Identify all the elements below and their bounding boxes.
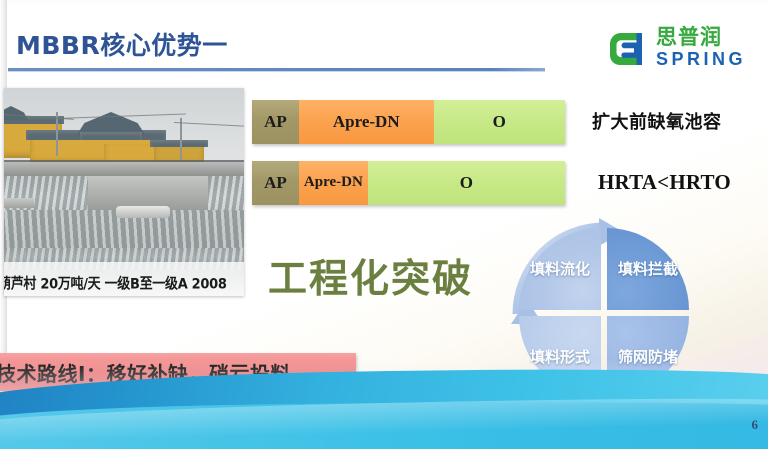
bar-two-note: HRTA<HRTO: [598, 170, 731, 195]
tech-route-banner-text: 技术路线I：移好补缺，硝亏投料: [0, 358, 291, 387]
bar-two-segment-ap: AP: [252, 161, 299, 205]
photo-roof-main: [80, 132, 142, 140]
photo-pipe: [116, 206, 170, 218]
brand-name-english: SPRING: [656, 50, 746, 68]
page-number: 6: [752, 417, 759, 433]
photo-pole-2: [180, 118, 182, 160]
photo-roof-far: [150, 140, 208, 147]
bar-one-segment-o: O: [434, 100, 565, 144]
slide-canvas: MBBR核心优势一 思普润 SPRING: [0, 0, 768, 449]
tech-route-banner: 技术路线I：移好补缺，硝亏投料: [0, 353, 356, 391]
cycle-diagram: 填料流化 填料拦截 填料形式 筛网防堵: [519, 228, 689, 398]
brand-wordmark: 思普润 SPRING: [656, 27, 746, 68]
brand-name-chinese: 思普润: [656, 27, 746, 48]
process-bar-one: AP Apre-DN O: [252, 100, 565, 144]
bar-one-note: 扩大前缺氧池容: [592, 108, 722, 134]
title-divider-shadow: [8, 71, 545, 72]
plant-photo: 葫芦村 20万吨/天 一级B至一级A 2008: [4, 88, 244, 296]
top-edge-strip: [0, 0, 768, 6]
brand-logo: 思普润 SPRING: [608, 27, 746, 68]
bar-two-segment-o: O: [368, 161, 565, 205]
photo-railing: [4, 160, 244, 162]
bar-two-segment-apre-dn: Apre-DN: [299, 161, 368, 205]
bar-one-segment-apre-dn: Apre-DN: [299, 100, 434, 144]
photo-basin-rim: [4, 162, 244, 176]
spring-logo-mark-icon: [608, 28, 648, 68]
photo-wall-left: [4, 198, 34, 208]
process-bar-two: AP Apre-DN O: [252, 161, 565, 205]
bar-one-segment-ap: AP: [252, 100, 299, 144]
photo-divider-wall: [88, 176, 208, 210]
plant-photo-image: [4, 88, 244, 296]
page-title: MBBR核心优势一: [16, 26, 228, 62]
photo-caption: 葫芦村 20万吨/天 一级B至一级A 2008: [4, 272, 244, 293]
headline-text: 工程化突破: [268, 248, 473, 304]
